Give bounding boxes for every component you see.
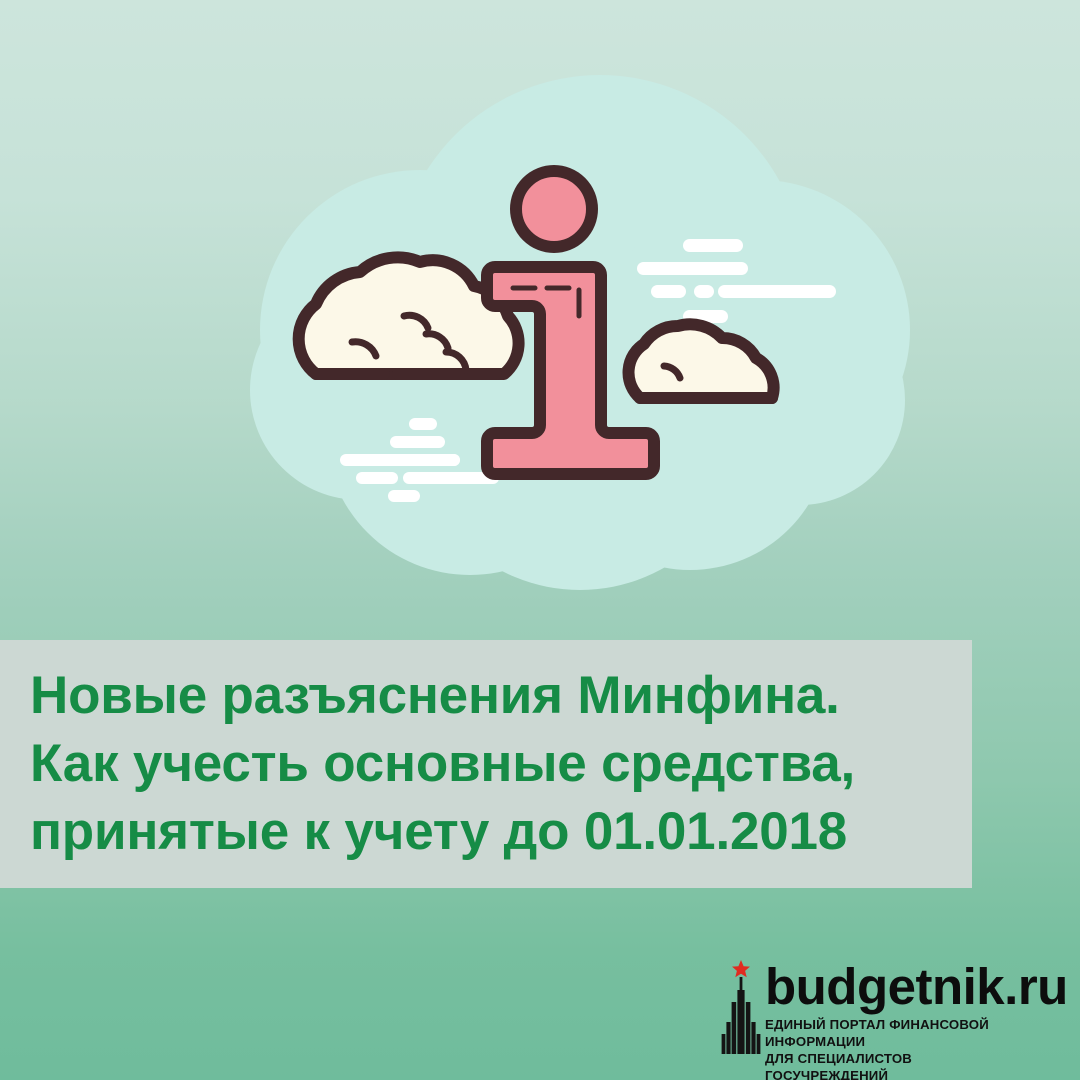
moscow-tower-icon <box>717 958 765 1054</box>
hero-illustration <box>0 0 1080 640</box>
info-card: Новые разъяснения Минфина. Как учесть ос… <box>0 0 1080 1080</box>
page-title: Новые разъяснения Минфина. Как учесть ос… <box>30 662 972 866</box>
logo-text-block: budgetnik.ru ЕДИНЫЙ ПОРТАЛ ФИНАНСОВОЙ ИН… <box>765 958 1017 1080</box>
logo-row: budgetnik.ru ЕДИНЫЙ ПОРТАЛ ФИНАНСОВОЙ ИН… <box>717 958 1017 1060</box>
site-logo[interactable]: budgetnik.ru ЕДИНЫЙ ПОРТАЛ ФИНАНСОВОЙ ИН… <box>717 958 1017 1060</box>
info-symbol-dot <box>516 171 592 247</box>
headline-band: Новые разъяснения Минфина. Как учесть ос… <box>0 640 972 888</box>
logo-wordmark: budgetnik.ru <box>765 958 1017 1016</box>
logo-tagline: ЕДИНЫЙ ПОРТАЛ ФИНАНСОВОЙ ИНФОРМАЦИИ ДЛЯ … <box>765 1016 1017 1080</box>
